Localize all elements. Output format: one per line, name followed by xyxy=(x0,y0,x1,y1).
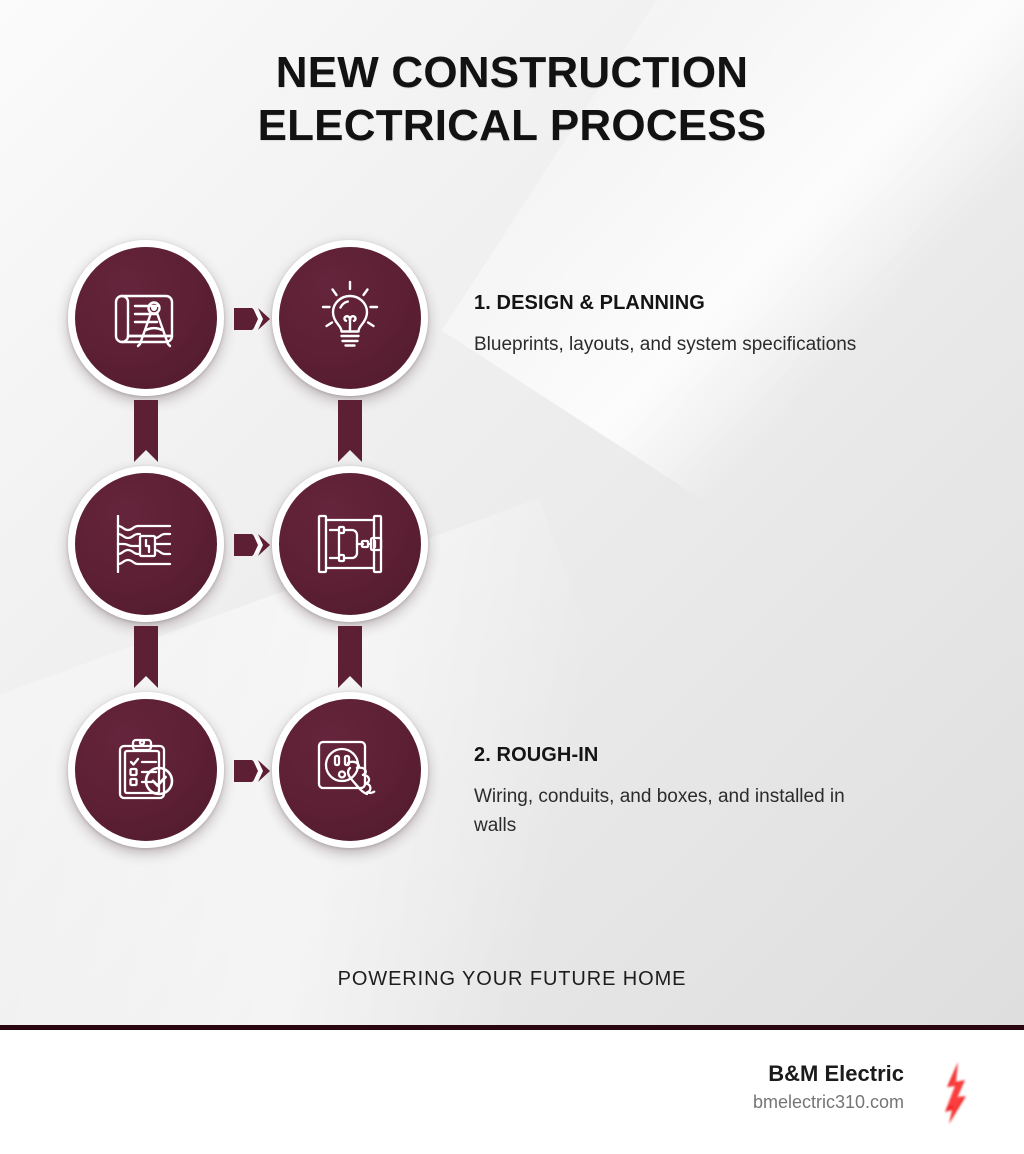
infographic-poster: NEW CONSTRUCTION ELECTRICAL PROCESS xyxy=(0,0,1024,1154)
connector-arrow-right-1 xyxy=(234,302,272,336)
brand-url[interactable]: bmelectric310.com xyxy=(753,1090,904,1114)
circle-badge xyxy=(68,692,224,848)
footer: B&M Electric bmelectric310.com xyxy=(0,1030,1024,1154)
wiring-cables-icon xyxy=(102,500,190,588)
circle-badge xyxy=(68,240,224,396)
circle-badge xyxy=(272,466,428,622)
title-line-2: ELECTRICAL PROCESS xyxy=(0,99,1024,152)
step-title: 1. DESIGN & PLANNING xyxy=(474,292,994,315)
hand-outlet-icon xyxy=(306,726,394,814)
step-description: Blueprints, layouts, and system specific… xyxy=(474,331,874,360)
lightning-bolt-icon xyxy=(926,1056,984,1130)
step-1-icon-right-circle[interactable] xyxy=(272,240,428,396)
connector-arrow-down-2b xyxy=(333,626,367,694)
connector-arrow-down-1b xyxy=(333,400,367,468)
brand-block: B&M Electric bmelectric310.com xyxy=(753,1060,904,1114)
step-3-icon-left-circle[interactable] xyxy=(68,692,224,848)
step-row-3: 4. FINAL INSPECTION & COMPLETION System … xyxy=(0,692,1024,918)
circle-badge xyxy=(272,240,428,396)
connector-arrow-down-2a xyxy=(129,626,163,694)
process-steps: 1. DESIGN & PLANNING Blueprints, layouts… xyxy=(0,240,1024,918)
step-2-icon-left-circle[interactable] xyxy=(68,466,224,622)
step-2-icon-right-circle[interactable] xyxy=(272,466,428,622)
title-line-1: NEW CONSTRUCTION xyxy=(0,46,1024,99)
brand-name: B&M Electric xyxy=(753,1060,904,1088)
circle-badge xyxy=(68,466,224,622)
lightbulb-icon xyxy=(306,274,394,362)
circle-badge xyxy=(272,692,428,848)
tagline: POWERING YOUR FUTURE HOME xyxy=(0,968,1024,991)
conduit-wall-frame-icon xyxy=(306,500,394,588)
step-1-icon-left-circle[interactable] xyxy=(68,240,224,396)
connector-arrow-right-3 xyxy=(234,754,272,788)
step-row-1: 1. DESIGN & PLANNING Blueprints, layouts… xyxy=(0,240,1024,466)
connector-arrow-down-1a xyxy=(129,400,163,468)
step-1-text: 1. DESIGN & PLANNING Blueprints, layouts… xyxy=(474,292,994,360)
step-3-icon-right-circle[interactable] xyxy=(272,692,428,848)
blueprint-compass-icon xyxy=(102,274,190,362)
connector-arrow-right-2 xyxy=(234,528,272,562)
clipboard-check-icon xyxy=(102,726,190,814)
step-row-2: 2. ROUGH-IN Wiring, conduits, and boxes,… xyxy=(0,466,1024,692)
page-title: NEW CONSTRUCTION ELECTRICAL PROCESS xyxy=(0,46,1024,152)
